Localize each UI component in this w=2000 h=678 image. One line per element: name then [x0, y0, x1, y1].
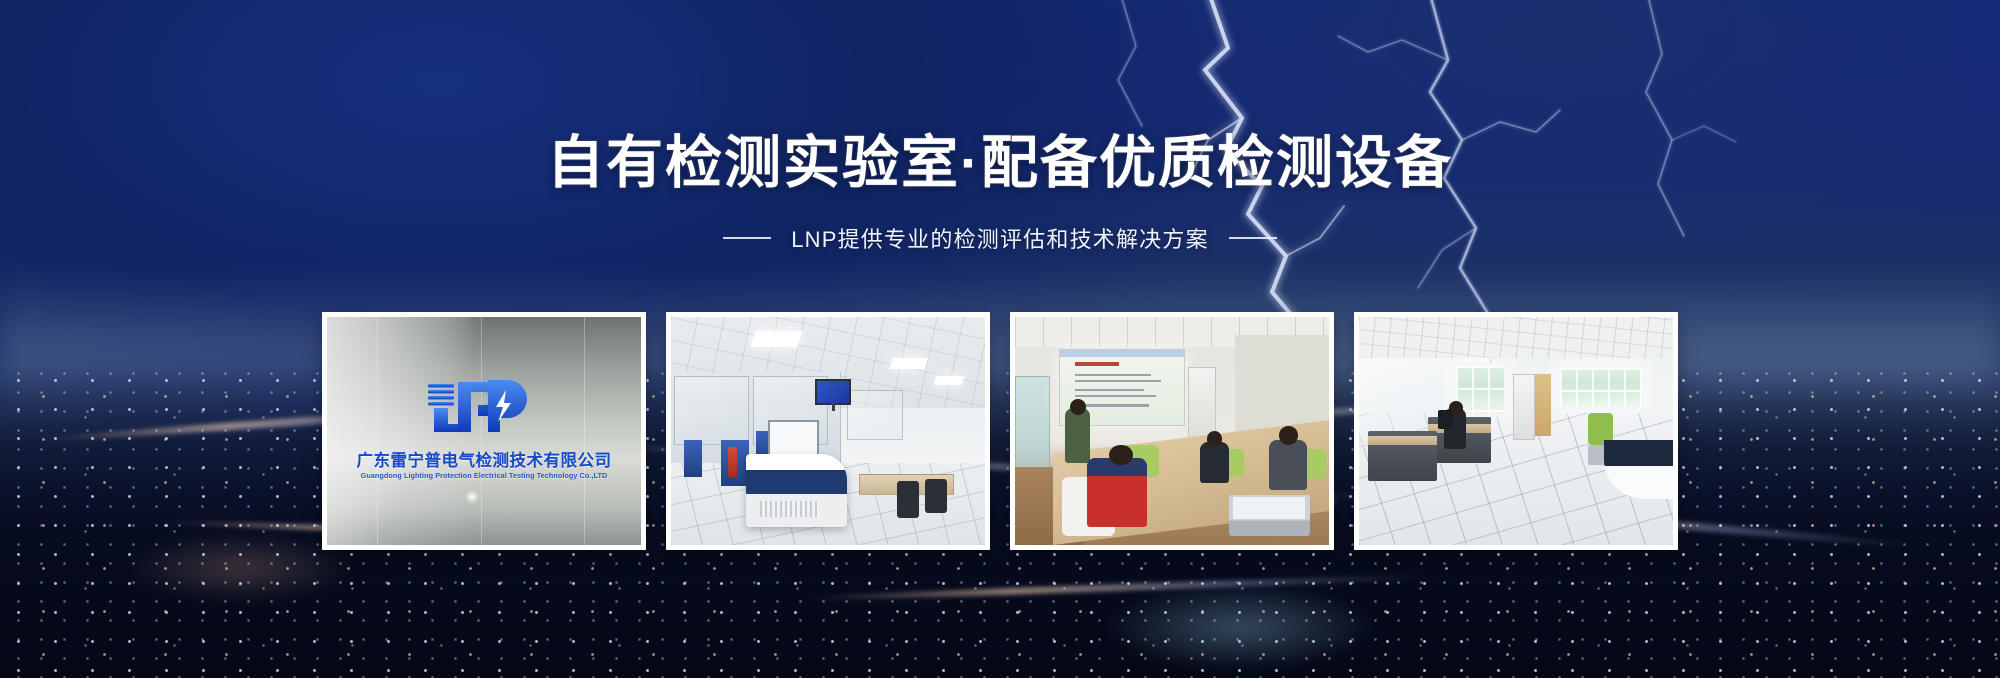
gallery-card-laboratory[interactable]	[666, 312, 990, 550]
laptop-screen	[1233, 497, 1305, 518]
slide-line	[1075, 389, 1144, 391]
wooden-shelf	[1535, 374, 1551, 436]
lnp-lightning-logo-icon	[422, 376, 546, 438]
ceiling-light	[889, 358, 927, 369]
page-subtitle: LNP提供专业的检测评估和技术解决方案	[791, 222, 1209, 254]
slide-heading	[1075, 362, 1119, 366]
left-divider-rule	[723, 237, 771, 239]
seated-person	[1200, 442, 1228, 483]
hero-banner: 自有检测实验室·配备优质检测设备 LNP提供专业的检测评估和技术解决方案	[0, 0, 2000, 678]
meeting-room-photo	[1015, 317, 1329, 545]
window-mullions	[1560, 368, 1642, 408]
seated-person-head	[1279, 426, 1298, 444]
subheadline-block: LNP提供专业的检测评估和技术解决方案	[0, 222, 2000, 254]
gallery-card-meeting-room[interactable]	[1010, 312, 1334, 550]
company-sign-photo: 广东雷宁普电气检测技术有限公司 Guangdong Lighting Prote…	[327, 317, 641, 545]
gallery-card-company-sign[interactable]: 广东雷宁普电气检测技术有限公司 Guangdong Lighting Prote…	[322, 312, 646, 550]
headline-block: 自有检测实验室·配备优质检测设备	[0, 132, 2000, 196]
presenter-head	[1070, 399, 1086, 415]
glass-door	[1015, 376, 1050, 472]
right-divider-rule	[1229, 237, 1277, 239]
control-console	[746, 454, 846, 527]
console-monitor	[768, 420, 818, 459]
city-glow	[1100, 582, 1380, 672]
company-name-en: Guangdong Lighting Protection Electrical…	[327, 471, 641, 480]
office-chair	[925, 479, 947, 513]
office-chair	[897, 481, 919, 517]
test-equipment-red	[728, 447, 737, 477]
office-window	[1557, 365, 1645, 411]
company-name-cn: 广东雷宁普电气检测技术有限公司	[327, 447, 641, 471]
laptop	[1229, 495, 1311, 536]
seated-person-head	[1109, 445, 1133, 466]
slide-line	[1075, 374, 1152, 376]
slide-line	[1075, 380, 1162, 382]
presenter-person	[1065, 408, 1090, 463]
desktop-monitor	[1438, 410, 1454, 428]
test-equipment	[684, 440, 703, 476]
photo-gallery: 广东雷宁普电气检测技术有限公司 Guangdong Lighting Prote…	[0, 312, 2000, 550]
window-mullions	[1456, 366, 1503, 415]
laboratory-photo	[671, 317, 985, 545]
ceiling-light	[933, 376, 964, 385]
lnp-logo-icon	[422, 376, 546, 438]
seated-person-head	[1207, 431, 1223, 447]
seated-person	[1087, 458, 1147, 526]
glass-pane	[847, 390, 904, 440]
glass-pane	[674, 376, 749, 444]
slide-line	[1075, 395, 1157, 397]
seated-person	[1269, 440, 1307, 490]
wall-spotlight	[465, 490, 479, 504]
slide-title-bar	[1060, 350, 1184, 357]
office-photo	[1359, 317, 1673, 545]
lnp-logo-block: 广东雷宁普电气检测技术有限公司 Guangdong Lighting Prote…	[327, 376, 641, 480]
desk-top	[1368, 436, 1437, 445]
console-vents	[760, 501, 818, 517]
ceiling-light	[750, 331, 802, 347]
ceiling-grid	[1359, 317, 1673, 358]
storage-cabinet	[1513, 374, 1535, 440]
gallery-card-office[interactable]	[1354, 312, 1678, 550]
page-title: 自有检测实验室·配备优质检测设备	[547, 132, 1453, 196]
wall-monitor	[815, 379, 851, 405]
